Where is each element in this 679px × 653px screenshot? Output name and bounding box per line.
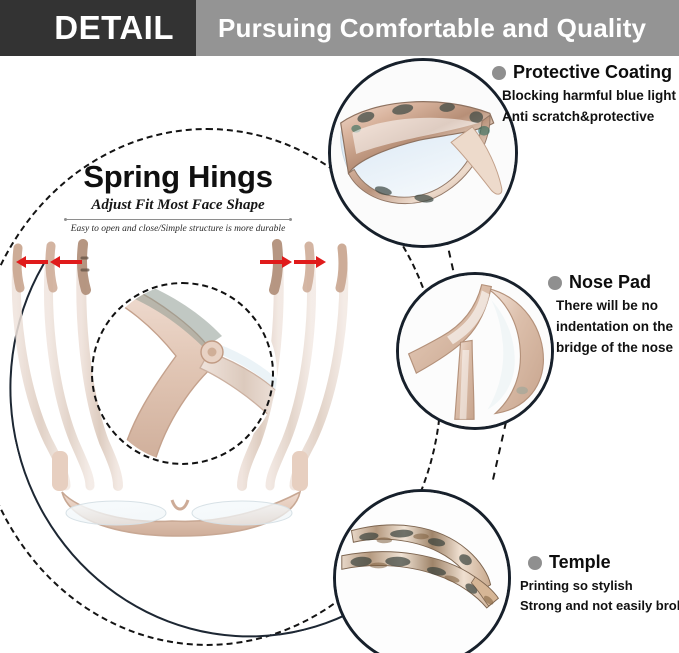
callout-header: Nose Pad <box>548 272 673 293</box>
callout-temple: Temple Printing so stylish Strong and no… <box>520 552 679 616</box>
photo-temple <box>333 489 511 653</box>
header-banner: DETAIL Pursuing Comfortable and Quality <box>0 0 679 56</box>
feature-subtitle: Adjust Fit Most Face Shape <box>52 197 304 214</box>
callout-header: Protective Coating <box>492 62 676 83</box>
header-badge: DETAIL <box>0 0 196 56</box>
title-divider <box>65 219 291 220</box>
callout-body: Blocking harmful blue light Anti scratch… <box>492 86 676 128</box>
callout-line: bridge of the nose <box>556 338 673 359</box>
callout-body: There will be no indentation on the brid… <box>548 296 673 359</box>
header-tagline: Pursuing Comfortable and Quality <box>218 13 646 44</box>
callout-line: There will be no <box>556 296 673 317</box>
bullet-dot-icon <box>548 276 562 290</box>
spring-hinge-title-block: Spring Hings Adjust Fit Most Face Shape … <box>52 160 304 234</box>
callout-line: Anti scratch&protective <box>502 107 676 128</box>
feature-title: Spring Hings <box>52 160 304 193</box>
callout-title: Protective Coating <box>513 62 672 83</box>
product-detail-poster: DETAIL Pursuing Comfortable and Quality … <box>0 0 679 653</box>
callout-nose-pad: Nose Pad There will be no indentation on… <box>548 272 673 359</box>
bullet-dot-icon <box>492 66 506 80</box>
hinge-zoom-dashed-circle <box>91 282 274 465</box>
callout-title: Temple <box>549 552 611 573</box>
photo-protective-coating <box>328 58 518 248</box>
header-badge-label: DETAIL <box>54 9 174 47</box>
feature-note: Easy to open and close/Simple structure … <box>52 224 304 234</box>
bullet-dot-icon <box>528 556 542 570</box>
callout-line: Strong and not easily broken <box>520 596 679 616</box>
callout-header: Temple <box>520 552 679 573</box>
callout-body: Printing so stylish Strong and not easil… <box>520 576 679 616</box>
photo-nose-pad <box>396 272 554 430</box>
callout-title: Nose Pad <box>569 272 651 293</box>
header-tagline-bar: Pursuing Comfortable and Quality <box>196 0 679 56</box>
callout-line: indentation on the <box>556 317 673 338</box>
callout-line: Blocking harmful blue light <box>502 86 676 107</box>
callout-protective-coating: Protective Coating Blocking harmful blue… <box>492 62 676 128</box>
callout-line: Printing so stylish <box>520 576 679 596</box>
